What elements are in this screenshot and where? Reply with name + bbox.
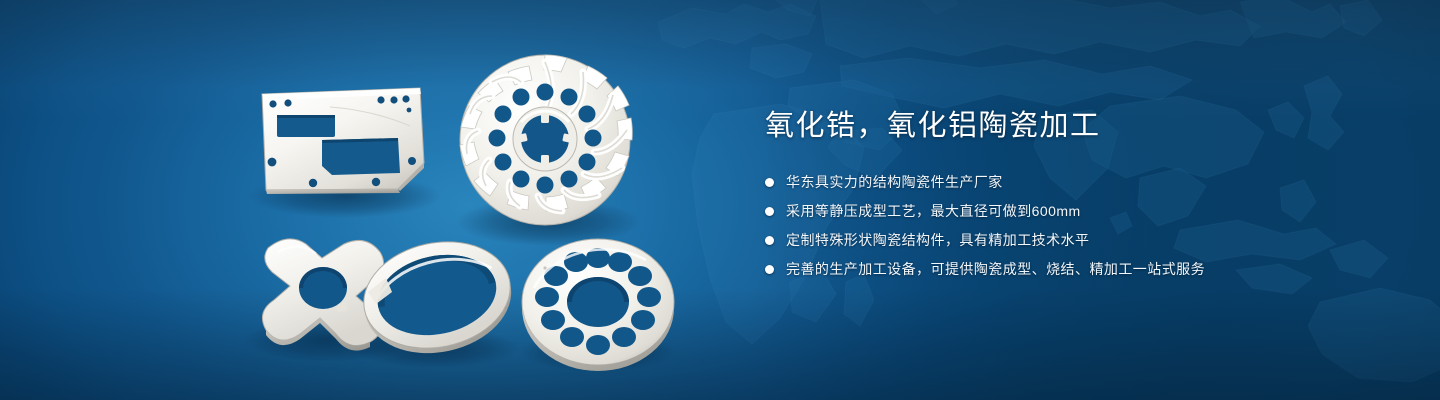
hero-banner: 氧化锆，氧化铝陶瓷加工 华东具实力的结构陶瓷件生产厂家 采用等静压成型工艺，最大… [0,0,1440,400]
bullet-dot-icon [765,178,774,187]
bullet-dot-icon [765,236,774,245]
ceramic-valve-plate [522,239,674,371]
feature-text: 采用等静压成型工艺，最大直径可做到600mm [786,201,1081,222]
feature-text: 完善的生产加工设备，可提供陶瓷成型、烧结、精加工一站式服务 [786,259,1205,280]
bullet-dot-icon [765,265,774,274]
feature-text: 华东具实力的结构陶瓷件生产厂家 [786,172,1003,193]
list-item: 华东具实力的结构陶瓷件生产厂家 [765,172,1385,193]
feature-text: 定制特殊形状陶瓷结构件，具有精加工技术水平 [786,230,1089,251]
list-item: 定制特殊形状陶瓷结构件，具有精加工技术水平 [765,230,1385,251]
feature-list: 华东具实力的结构陶瓷件生产厂家 采用等静压成型工艺，最大直径可做到600mm 定… [765,172,1385,280]
banner-copy: 氧化锆，氧化铝陶瓷加工 华东具实力的结构陶瓷件生产厂家 采用等静压成型工艺，最大… [765,108,1385,280]
banner-headline: 氧化锆，氧化铝陶瓷加工 [765,108,1385,144]
ceramic-machined-plate [262,88,424,194]
list-item: 采用等静压成型工艺，最大直径可做到600mm [765,201,1385,222]
list-item: 完善的生产加工设备，可提供陶瓷成型、烧结、精加工一站式服务 [765,259,1385,280]
product-photo-cluster [0,0,760,400]
ceramic-impeller-disc [460,55,632,225]
bullet-dot-icon [765,207,774,216]
